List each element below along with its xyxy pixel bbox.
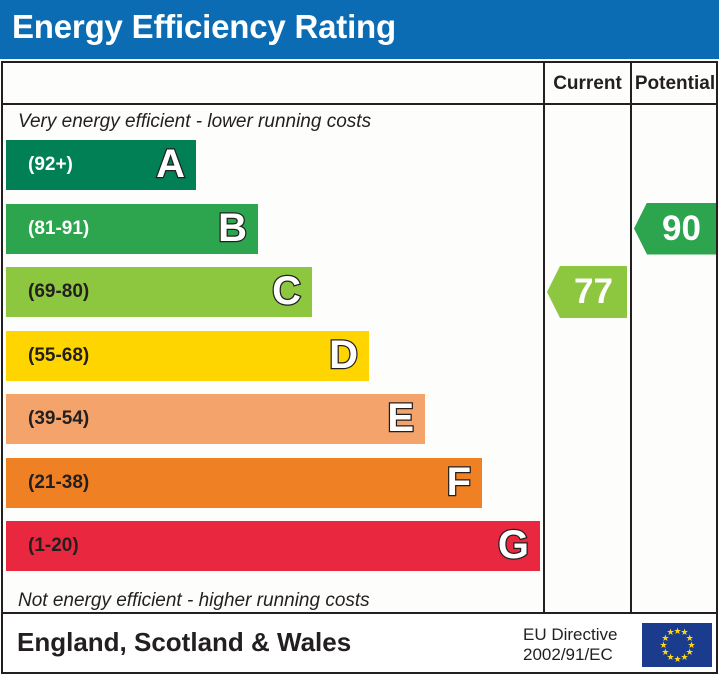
band-range-e: (39-54) — [28, 394, 89, 444]
band-range-d: (55-68) — [28, 331, 89, 381]
rating-value-current: 77 — [560, 266, 627, 318]
rating-value-potential: 90 — [647, 203, 716, 255]
footer-region-label: England, Scotland & Wales — [17, 627, 351, 658]
band-range-f: (21-38) — [28, 458, 89, 508]
column-header-current: Current — [545, 72, 630, 96]
band-d: (55-68)D — [6, 331, 369, 381]
chart-body: Current Potential Very energy efficient … — [1, 61, 718, 614]
band-letter-c: C — [272, 267, 301, 317]
band-b: (81-91)B — [6, 204, 258, 254]
band-c: (69-80)C — [6, 267, 312, 317]
band-f: (21-38)F — [6, 458, 482, 508]
footer: England, Scotland & Wales EU Directive 2… — [1, 612, 718, 674]
band-a: (92+)A — [6, 140, 196, 190]
eu-flag-star: ★ — [661, 649, 668, 656]
band-range-b: (81-91) — [28, 204, 89, 254]
band-letter-g: G — [498, 521, 529, 571]
band-range-g: (1-20) — [28, 521, 79, 571]
column-header-potential: Potential — [632, 72, 718, 96]
band-letter-d: D — [329, 331, 358, 381]
band-letter-f: F — [447, 458, 471, 508]
footer-directive-label: EU Directive 2002/91/EC — [523, 625, 617, 665]
band-letter-a: A — [156, 140, 185, 190]
page-title: Energy Efficiency Rating — [12, 8, 396, 46]
band-letter-e: E — [387, 394, 414, 444]
eu-flag-star: ★ — [660, 642, 667, 649]
band-range-a: (92+) — [28, 140, 73, 190]
band-e: (39-54)E — [6, 394, 425, 444]
rating-marker-potential: 90 — [634, 203, 716, 255]
current-column-divider — [543, 63, 545, 614]
band-letter-b: B — [218, 204, 247, 254]
directive-line-1: EU Directive — [523, 625, 617, 645]
band-list: (92+)A(81-91)B(69-80)C(55-68)D(39-54)E(2… — [3, 63, 543, 614]
eu-flag-star: ★ — [667, 629, 674, 636]
title-bar: Energy Efficiency Rating — [0, 0, 719, 59]
band-g: (1-20)G — [6, 521, 540, 571]
energy-efficiency-rating-chart: Energy Efficiency Rating Current Potenti… — [0, 0, 719, 675]
rating-marker-current: 77 — [547, 266, 627, 318]
directive-line-2: 2002/91/EC — [523, 645, 617, 665]
band-range-c: (69-80) — [28, 267, 89, 317]
eu-flag-icon: ★★★★★★★★★★★★ — [642, 623, 712, 667]
potential-column-divider — [630, 63, 632, 614]
